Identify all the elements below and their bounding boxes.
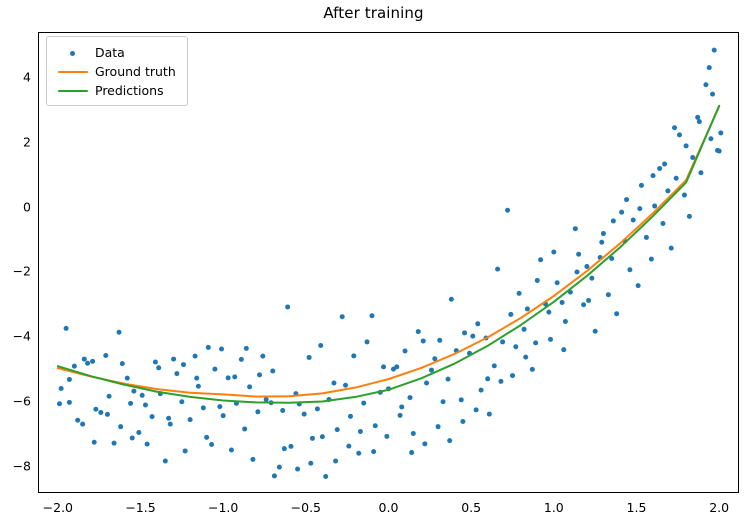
data-point: [510, 373, 515, 378]
data-point: [698, 170, 703, 175]
legend-item-label: Data: [92, 45, 125, 60]
data-point: [232, 374, 237, 379]
data-point: [581, 302, 586, 307]
data-point: [639, 183, 644, 188]
data-point: [57, 401, 62, 406]
data-point: [637, 206, 642, 211]
data-point: [710, 92, 715, 97]
x-tick-label: −1.5: [125, 500, 155, 515]
data-point: [168, 422, 173, 427]
y-tick-label: −6: [0, 393, 31, 408]
data-point: [340, 314, 345, 319]
data-point: [226, 375, 231, 380]
data-point: [244, 346, 249, 351]
data-point: [212, 367, 217, 372]
data-point: [107, 394, 112, 399]
line-swatch-icon: [58, 90, 88, 92]
data-point: [193, 354, 198, 359]
data-point: [358, 429, 363, 434]
data-point: [441, 399, 446, 404]
data-point: [470, 334, 475, 339]
data-point: [194, 376, 199, 381]
data-point: [649, 257, 654, 262]
data-point: [522, 327, 527, 332]
data-point: [351, 353, 356, 358]
data-point: [652, 204, 657, 209]
data-point: [546, 310, 551, 315]
data-point: [179, 399, 184, 404]
data-point: [697, 119, 702, 124]
data-point: [229, 447, 234, 452]
data-point: [242, 426, 247, 431]
data-point: [589, 276, 594, 281]
data-point: [183, 448, 188, 453]
data-point: [523, 355, 528, 360]
data-point: [398, 413, 403, 418]
data-point: [475, 321, 480, 326]
data-point: [315, 406, 320, 411]
data-point: [611, 218, 616, 223]
data-point: [67, 377, 72, 382]
data-point: [708, 136, 713, 141]
data-point: [166, 416, 171, 421]
data-point: [153, 359, 158, 364]
data-point: [409, 450, 414, 455]
data-point: [196, 384, 201, 389]
data-point: [624, 197, 629, 202]
data-point: [112, 441, 117, 446]
data-point: [204, 435, 209, 440]
data-point: [560, 300, 565, 305]
data-point: [247, 384, 252, 389]
data-point: [495, 267, 500, 272]
data-point: [369, 313, 374, 318]
data-point: [718, 130, 723, 135]
data-point: [606, 292, 611, 297]
data-point: [561, 347, 566, 352]
y-tick-label: −4: [0, 329, 31, 344]
data-point: [619, 210, 624, 215]
data-point: [105, 412, 110, 417]
data-point: [631, 217, 636, 222]
data-point: [422, 441, 427, 446]
x-tick-label: −0.5: [291, 500, 321, 515]
data-point: [75, 418, 80, 423]
x-tick-label: 1.0: [544, 500, 564, 515]
x-tick-label: −1.0: [208, 500, 238, 515]
data-point: [399, 404, 404, 409]
x-tick-label: 0.5: [461, 500, 481, 515]
data-point: [548, 337, 553, 342]
data-point: [407, 395, 412, 400]
data-point: [525, 306, 530, 311]
data-point: [171, 357, 176, 362]
data-point: [156, 365, 161, 370]
x-tick-label: 1.5: [627, 500, 647, 515]
data-point: [707, 65, 712, 70]
data-point: [282, 446, 287, 451]
data-point: [487, 412, 492, 417]
data-point: [416, 329, 421, 334]
data-point: [703, 82, 708, 87]
data-point: [356, 451, 361, 456]
data-point: [651, 173, 656, 178]
data-point: [188, 417, 193, 422]
data-point: [505, 208, 510, 213]
data-point: [93, 407, 98, 412]
x-tick-label: −2.0: [43, 500, 73, 515]
legend-marker-dot-icon: [54, 46, 92, 60]
data-point: [219, 347, 224, 352]
data-point: [498, 379, 503, 384]
data-point: [150, 414, 155, 419]
data-point: [85, 361, 90, 366]
data-point: [446, 377, 451, 382]
data-point: [636, 283, 641, 288]
data-point: [318, 343, 323, 348]
data-point: [517, 291, 522, 296]
data-point: [145, 442, 150, 447]
data-point: [82, 357, 87, 362]
data-point: [257, 372, 262, 377]
data-point: [308, 461, 313, 466]
data-point: [103, 353, 108, 358]
data-point: [574, 270, 579, 275]
chart-legend: DataGround truthPredictions: [46, 36, 188, 106]
data-point: [424, 381, 429, 386]
data-point: [201, 405, 206, 410]
x-tick-label: 0.0: [379, 500, 399, 515]
legend-item-predictions[interactable]: Predictions: [54, 81, 180, 100]
page-title: After training: [0, 4, 747, 22]
data-point: [120, 361, 125, 366]
data-point: [449, 297, 454, 302]
data-point: [59, 386, 64, 391]
data-point: [429, 368, 434, 373]
data-point: [584, 264, 589, 269]
legend-item-data[interactable]: Data: [54, 43, 180, 62]
data-point: [209, 442, 214, 447]
legend-item-ground-truth[interactable]: Ground truth: [54, 62, 180, 81]
data-point: [307, 355, 312, 360]
data-point: [255, 409, 260, 414]
data-point: [687, 214, 692, 219]
data-point: [437, 338, 442, 343]
data-point: [669, 246, 674, 251]
data-point: [310, 436, 315, 441]
data-point: [131, 389, 136, 394]
data-point: [348, 414, 353, 419]
data-point: [72, 364, 77, 369]
data-point: [684, 143, 689, 148]
data-point: [601, 231, 606, 236]
data-point: [333, 458, 338, 463]
data-point: [272, 473, 277, 478]
data-point: [593, 329, 598, 334]
data-point: [67, 400, 72, 405]
data-point: [331, 381, 336, 386]
data-point: [277, 465, 282, 470]
y-tick-label: 4: [0, 70, 31, 85]
data-point: [513, 344, 518, 349]
data-point: [295, 467, 300, 472]
data-point: [394, 364, 399, 369]
data-point: [479, 388, 484, 393]
data-point: [361, 401, 366, 406]
data-point: [217, 404, 222, 409]
data-point: [563, 319, 568, 324]
y-tick-label: 2: [0, 134, 31, 149]
data-point: [657, 166, 662, 171]
scatter-dot-icon: [70, 51, 75, 56]
data-point: [346, 444, 351, 449]
data-point: [343, 383, 348, 388]
data-point: [485, 376, 490, 381]
x-tick-label: 2.0: [709, 500, 729, 515]
data-point: [436, 424, 441, 429]
data-point: [140, 393, 145, 398]
data-point: [459, 397, 464, 402]
data-point: [674, 176, 679, 181]
data-point: [677, 132, 682, 137]
data-point: [323, 474, 328, 479]
data-point: [403, 348, 408, 353]
data-point: [288, 444, 293, 449]
data-point: [130, 436, 135, 441]
data-point: [662, 161, 667, 166]
data-point: [280, 408, 285, 413]
data-point: [181, 362, 186, 367]
data-point: [535, 278, 540, 283]
data-point: [239, 357, 244, 362]
data-point: [381, 364, 386, 369]
legend-item-label: Predictions: [92, 83, 164, 98]
line-swatch-icon: [58, 71, 88, 73]
data-point: [64, 326, 69, 331]
data-point: [672, 125, 677, 130]
data-point: [270, 369, 275, 374]
data-point: [92, 440, 97, 445]
data-point: [492, 363, 497, 368]
data-point: [530, 367, 535, 372]
y-tick-label: 0: [0, 199, 31, 214]
data-point: [174, 371, 179, 376]
data-point: [117, 330, 122, 335]
data-point: [586, 298, 591, 303]
data-point: [373, 423, 378, 428]
data-point: [599, 240, 604, 245]
data-point: [221, 413, 226, 418]
data-point: [627, 267, 632, 272]
data-point: [285, 304, 290, 309]
data-point: [447, 438, 452, 443]
data-point: [411, 431, 416, 436]
data-point: [508, 312, 513, 317]
data-point: [573, 226, 578, 231]
legend-marker-line-icon: [54, 65, 92, 79]
data-point: [538, 257, 543, 262]
data-point: [90, 359, 95, 364]
data-point: [365, 339, 370, 344]
data-point: [421, 338, 426, 343]
data-point: [250, 457, 255, 462]
data-point: [136, 430, 141, 435]
data-point: [384, 434, 389, 439]
data-point: [717, 149, 722, 154]
data-point: [500, 339, 505, 344]
data-point: [335, 427, 340, 432]
data-point: [80, 422, 85, 427]
data-point: [474, 407, 479, 412]
data-point: [660, 221, 665, 226]
data-point: [320, 434, 325, 439]
data-point: [533, 340, 538, 345]
data-point: [576, 252, 581, 257]
data-point: [665, 188, 670, 193]
data-point: [614, 311, 619, 316]
matplotlib-figure: After training 420−2−4−6−8−2.0−1.5−1.0−0…: [0, 0, 747, 528]
data-point: [260, 354, 265, 359]
data-point: [551, 249, 556, 254]
data-point: [371, 449, 376, 454]
y-tick-label: −8: [0, 458, 31, 473]
data-point: [98, 410, 103, 415]
data-point: [143, 403, 148, 408]
data-point: [682, 193, 687, 198]
data-point: [118, 424, 123, 429]
y-tick-label: −2: [0, 264, 31, 279]
legend-item-label: Ground truth: [92, 64, 176, 79]
data-point: [125, 376, 130, 381]
data-point: [644, 235, 649, 240]
data-point: [206, 345, 211, 350]
data-point: [462, 330, 467, 335]
data-point: [460, 419, 465, 424]
data-point: [163, 458, 168, 463]
data-point: [712, 48, 717, 53]
data-point: [264, 397, 269, 402]
data-point: [555, 280, 560, 285]
legend-marker-line-icon: [54, 84, 92, 98]
data-point: [128, 401, 133, 406]
data-point: [302, 412, 307, 417]
